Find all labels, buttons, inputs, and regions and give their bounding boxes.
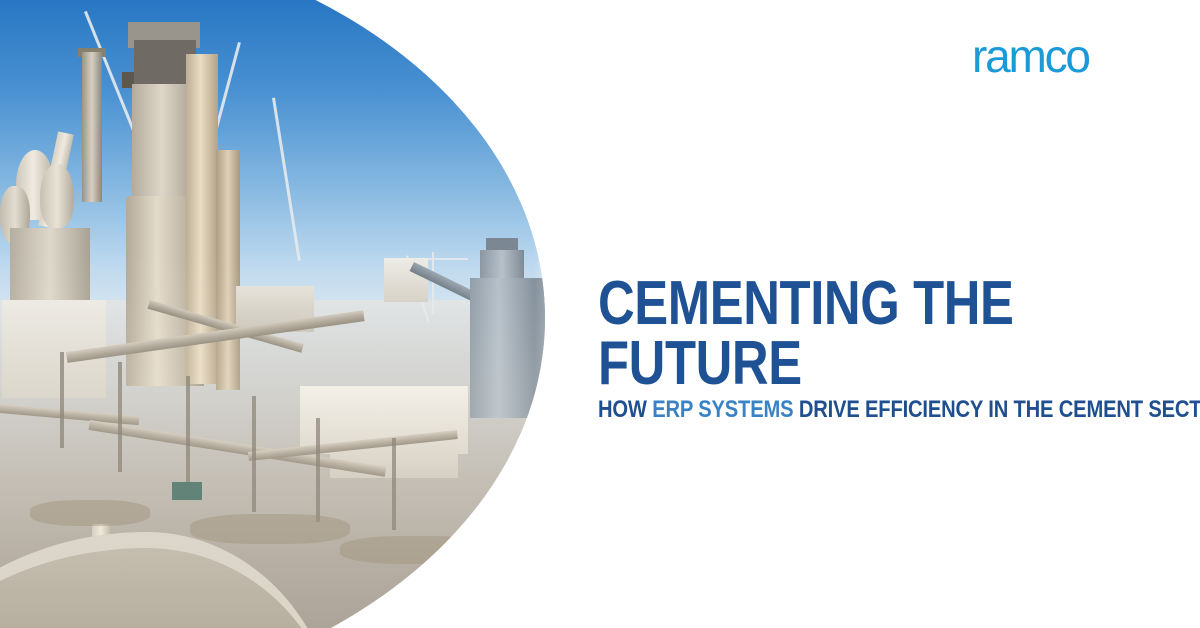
tower-frame-right bbox=[216, 150, 240, 390]
marketing-banner: ramco CEMENTING THE FUTURE HOW ERP SYSTE… bbox=[0, 0, 1200, 628]
subtitle-accent: ERP SYSTEMS bbox=[652, 396, 793, 423]
gantry-leg bbox=[392, 438, 396, 530]
cyclone-vessel bbox=[40, 164, 74, 228]
subtitle-after: DRIVE EFFICIENCY IN THE CEMENT SECTOR bbox=[793, 396, 1200, 423]
mill-house bbox=[10, 228, 90, 300]
scrub-vegetation bbox=[30, 500, 150, 526]
gantry-leg bbox=[252, 396, 256, 512]
cement-plant-photo bbox=[0, 0, 560, 628]
gantry-leg bbox=[316, 418, 320, 522]
storage-silo bbox=[470, 278, 552, 418]
green-container bbox=[172, 482, 202, 500]
page-title: CEMENTING THE FUTURE bbox=[598, 274, 1074, 396]
hero-photo bbox=[0, 0, 560, 628]
yard-building bbox=[384, 258, 428, 302]
ramco-logo[interactable]: ramco bbox=[972, 33, 1089, 79]
chimney-stack bbox=[82, 52, 102, 202]
scrub-vegetation bbox=[340, 536, 490, 564]
gantry-leg bbox=[118, 362, 122, 472]
subtitle: HOW ERP SYSTEMS DRIVE EFFICIENCY IN THE … bbox=[598, 396, 1186, 424]
gantry-leg bbox=[60, 352, 64, 448]
scrub-vegetation bbox=[190, 514, 350, 544]
subtitle-before: HOW bbox=[598, 396, 652, 423]
silo-cap bbox=[480, 250, 524, 280]
gantry-leg bbox=[186, 376, 190, 488]
